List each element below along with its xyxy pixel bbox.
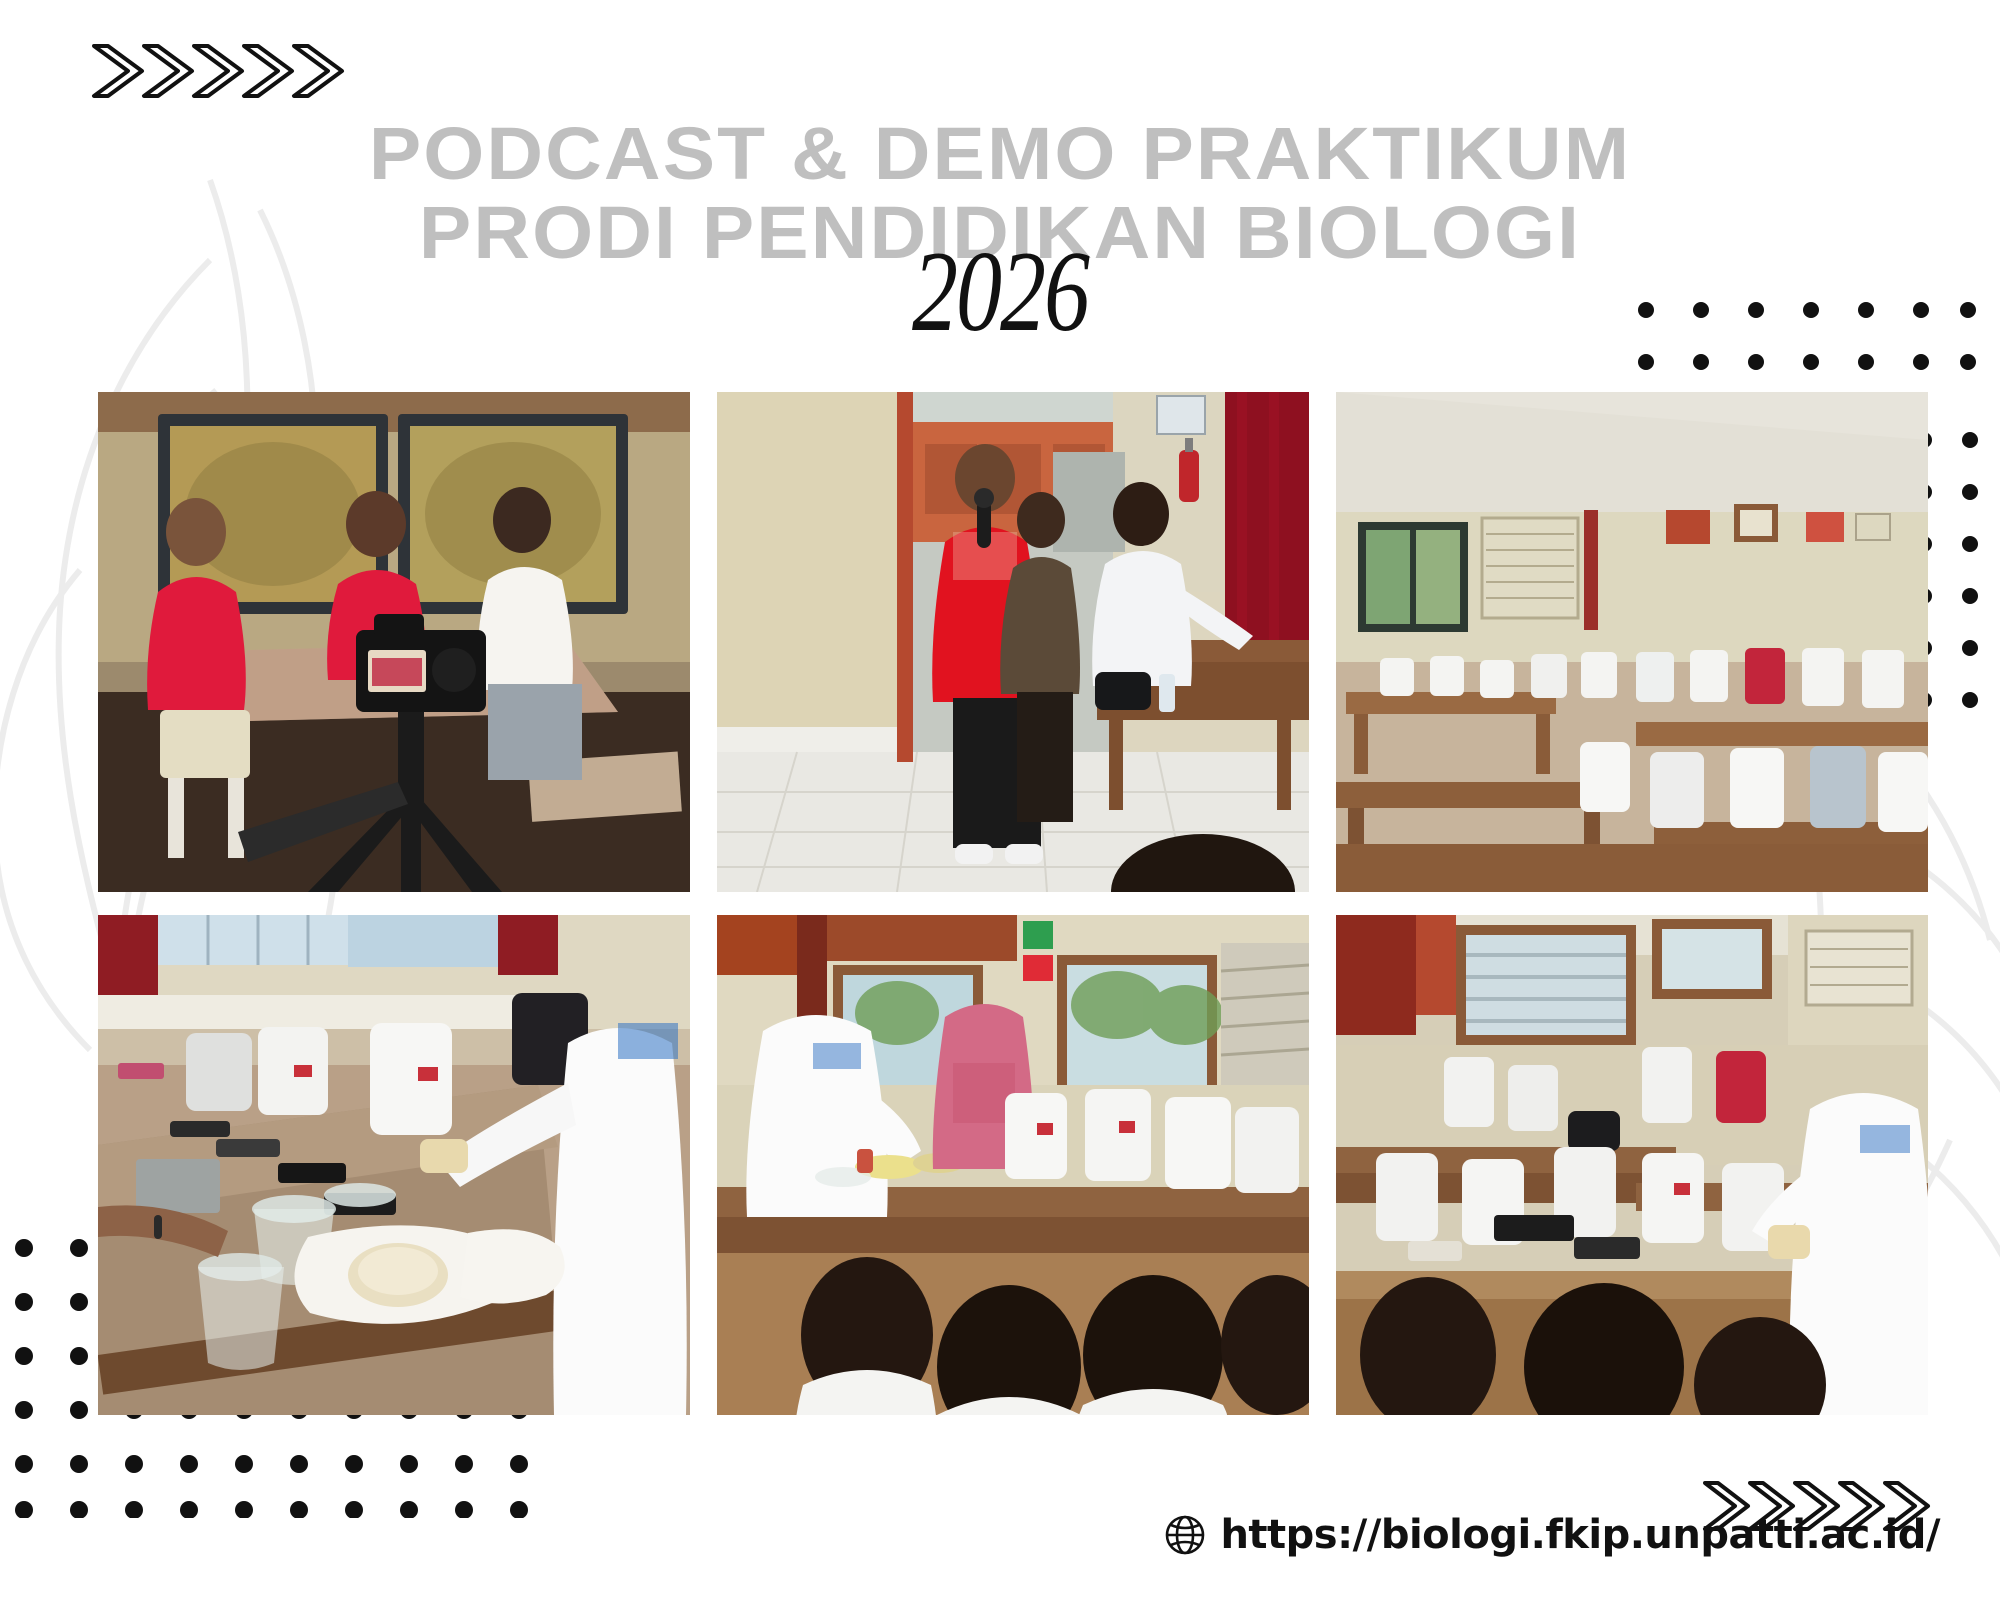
photo-lab-demo-table[interactable] [98, 915, 690, 1415]
website-url-text: https://biologi.fkip.unpatti.ac.id/ [1220, 1512, 1940, 1558]
photo-gallery [98, 392, 1928, 1415]
photo-group-discussion[interactable] [1336, 915, 1928, 1415]
footer-website-url[interactable]: https://biologi.fkip.unpatti.ac.id/ [0, 1512, 1940, 1558]
title-line-1: PODCAST & DEMO PRAKTIKUM [0, 118, 2000, 191]
poster-year: 2026 [0, 225, 2000, 358]
globe-icon [1164, 1514, 1206, 1556]
chevron-arrows-top [88, 40, 388, 102]
photo-speaker-microphone[interactable] [717, 392, 1309, 892]
photo-demonstrator-students[interactable] [717, 915, 1309, 1415]
photo-podcast-interview[interactable] [98, 392, 690, 892]
photo-classroom-wide[interactable] [1336, 392, 1928, 892]
